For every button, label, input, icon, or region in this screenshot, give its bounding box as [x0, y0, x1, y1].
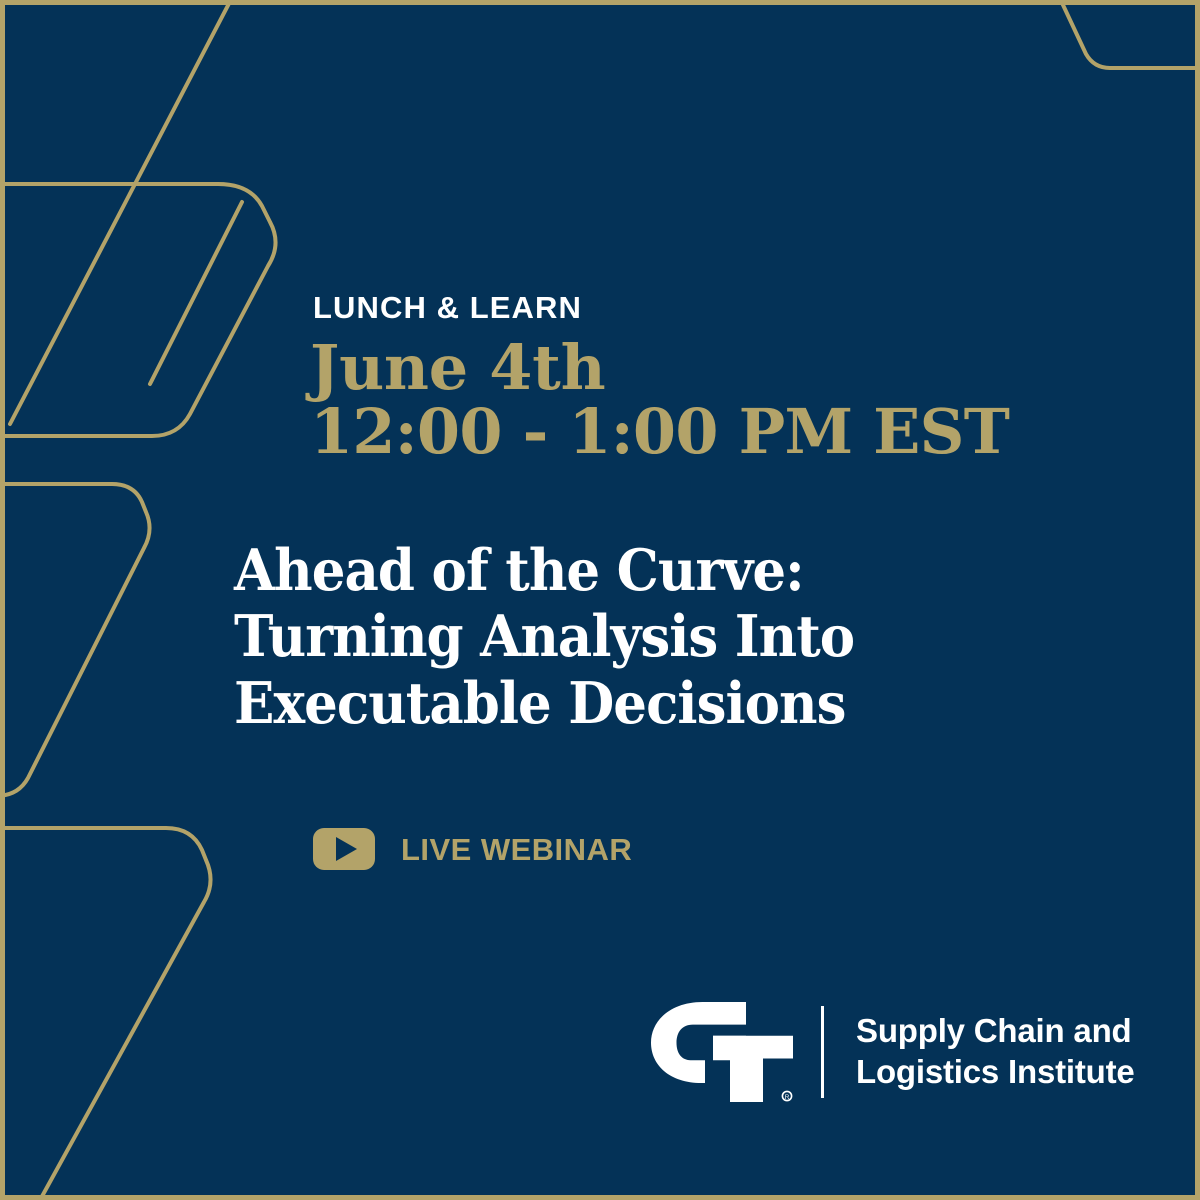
event-datetime: June 4th 12:00 - 1:00 PM EST — [310, 336, 1009, 464]
event-date: June 4th — [310, 336, 1009, 400]
gt-scl-logo-lockup: R Supply Chain and Logistics Institute — [645, 1002, 1135, 1102]
kicker-label: LUNCH & LEARN — [313, 292, 582, 323]
title-line-2: Turning Analysis Into — [234, 604, 854, 670]
logo-divider — [821, 1006, 824, 1098]
live-webinar-badge: LIVE WEBINAR — [313, 828, 632, 870]
page-title: Ahead of the Curve: Turning Analysis Int… — [234, 538, 854, 737]
title-line-1: Ahead of the Curve: — [234, 538, 854, 604]
live-webinar-label: LIVE WEBINAR — [401, 834, 632, 865]
play-triangle-icon — [336, 837, 357, 861]
institute-name-line-1: Supply Chain and — [856, 1011, 1135, 1052]
poster-content: LUNCH & LEARN June 4th 12:00 - 1:00 PM E… — [0, 0, 1200, 1200]
georgia-tech-gt-logo-icon: R — [645, 1002, 793, 1102]
webinar-promo-poster: LUNCH & LEARN June 4th 12:00 - 1:00 PM E… — [0, 0, 1200, 1200]
title-line-3: Executable Decisions — [234, 671, 854, 737]
play-icon — [313, 828, 375, 870]
institute-name: Supply Chain and Logistics Institute — [856, 1011, 1135, 1093]
event-time: 12:00 - 1:00 PM EST — [310, 400, 1009, 464]
institute-name-line-2: Logistics Institute — [856, 1052, 1135, 1093]
svg-text:R: R — [785, 1094, 790, 1101]
